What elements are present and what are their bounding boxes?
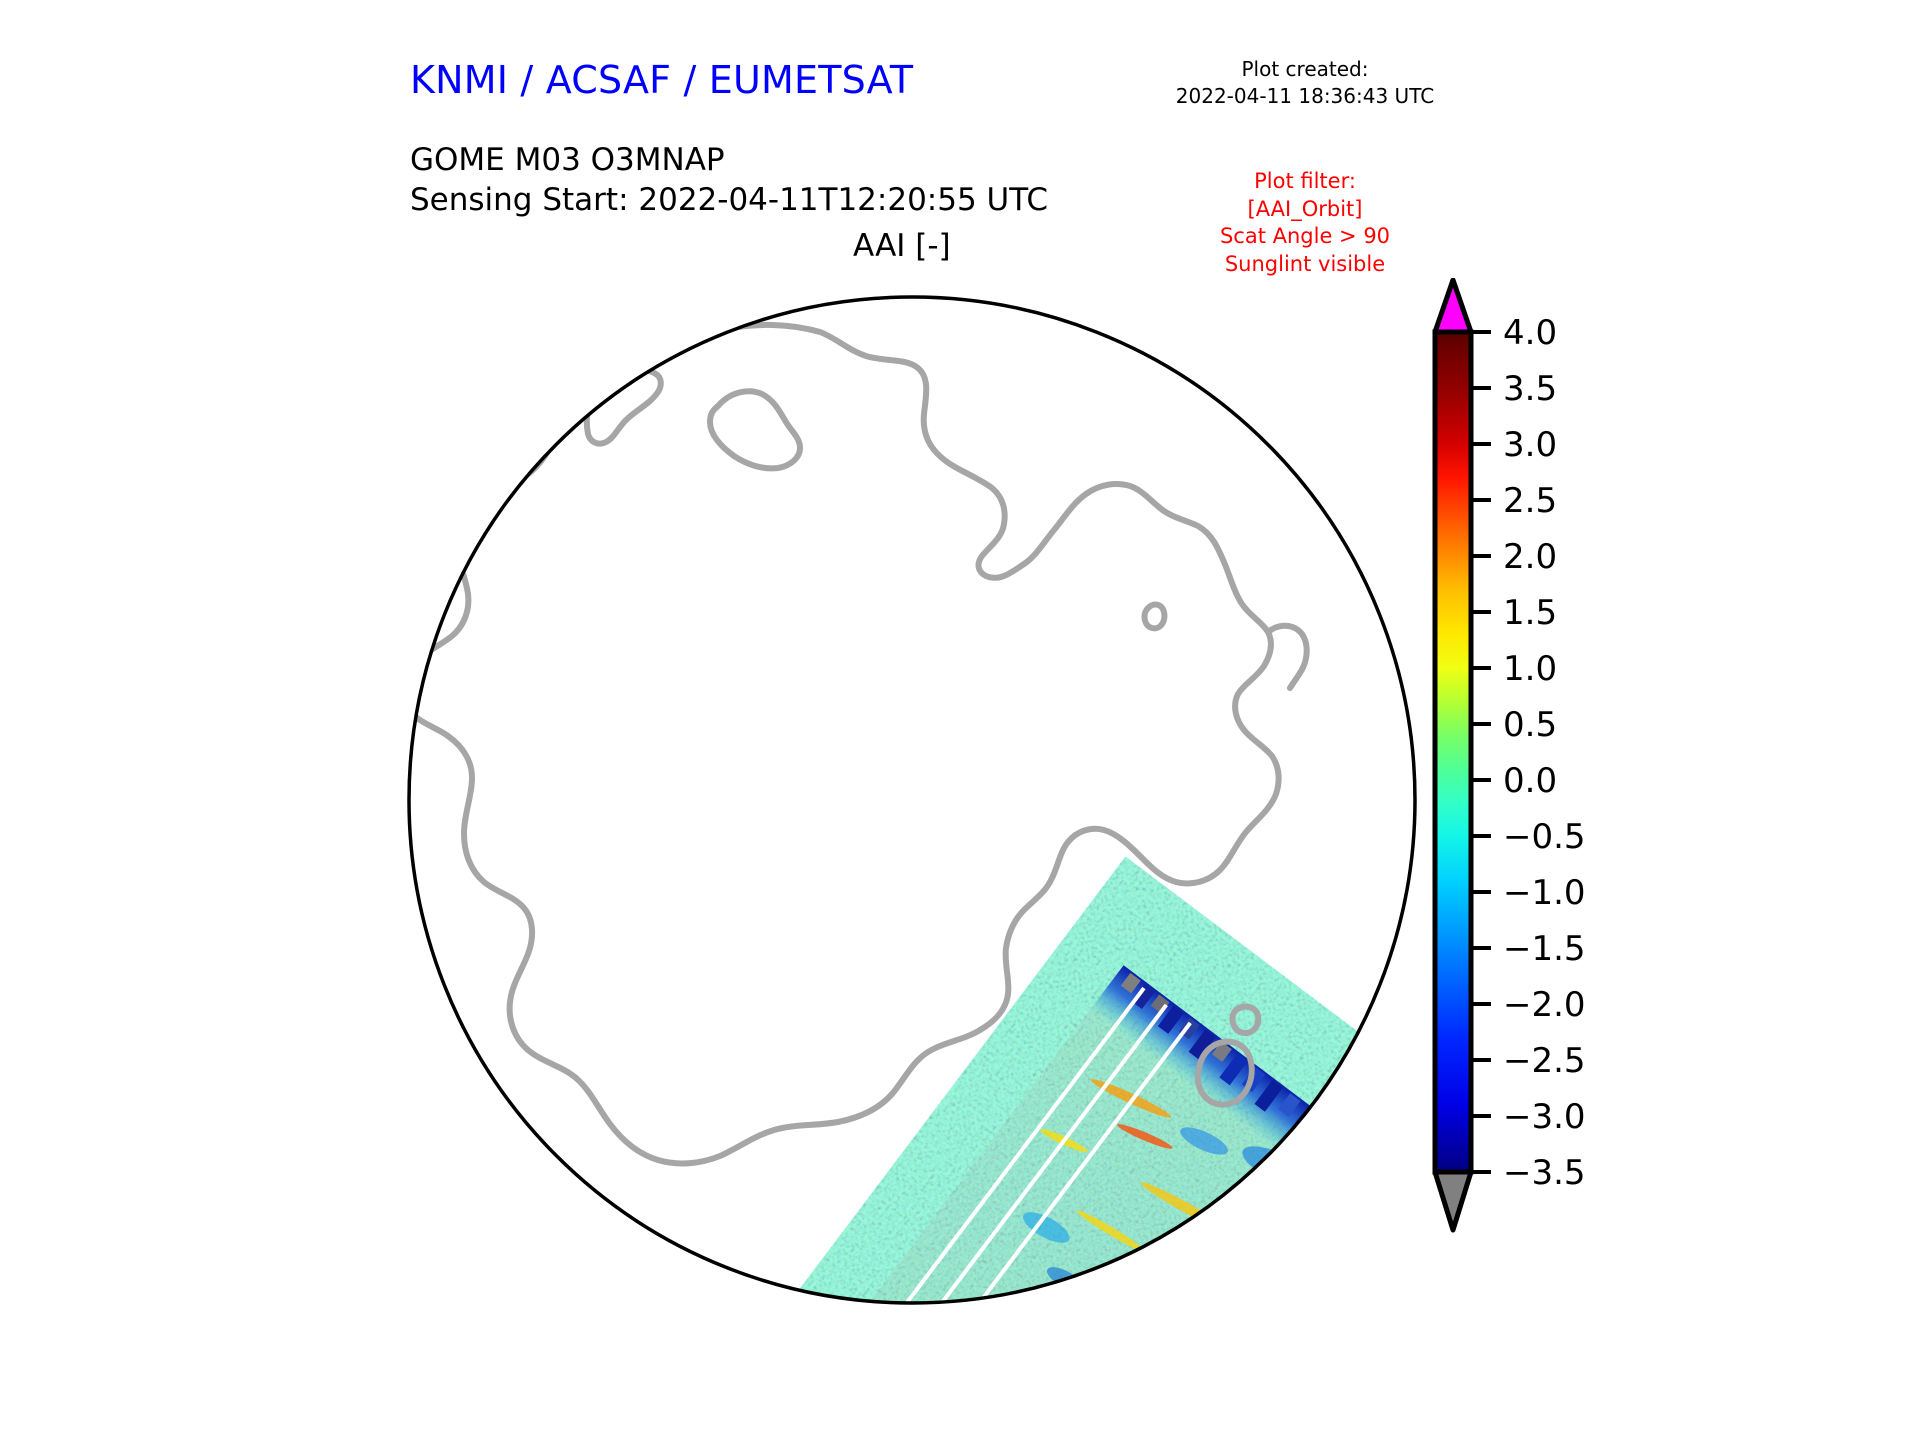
colorbar-tick-label: 1.5: [1503, 593, 1557, 633]
colorbar-tick-label: −3.5: [1503, 1153, 1586, 1193]
colorbar-tick-label: 2.0: [1503, 537, 1557, 577]
colorbar-tick-label: 4.0: [1503, 313, 1557, 353]
plot-filter-title: Plot filter:: [1160, 168, 1450, 196]
plot-filter-block: Plot filter: [AAI_Orbit] Scat Angle > 90…: [1160, 168, 1450, 279]
polar-map: [400, 280, 1430, 1330]
colorbar-over-arrow: [1435, 280, 1471, 332]
organisation-title: KNMI / ACSAF / EUMETSAT: [410, 58, 913, 102]
colorbar-tick-label: 0.0: [1503, 761, 1557, 801]
colorbar-tick-label: 0.5: [1503, 705, 1557, 745]
colorbar-gradient: [1435, 332, 1471, 1172]
plot-filter-scat-angle: Scat Angle > 90: [1160, 223, 1450, 251]
sensing-start: Sensing Start: 2022-04-11T12:20:55 UTC: [410, 180, 1048, 220]
colorbar-tick-label: 2.5: [1503, 481, 1557, 521]
map-area: [400, 280, 1430, 1330]
colorbar-ticks: 4.03.53.02.52.01.51.00.50.0−0.5−1.0−1.5−…: [1471, 313, 1586, 1193]
colorbar-tick-label: −3.0: [1503, 1097, 1586, 1137]
colorbar-tick-label: −0.5: [1503, 817, 1586, 857]
colorbar: 4.03.53.02.52.01.51.00.50.0−0.5−1.0−1.5−…: [1425, 278, 1655, 1308]
colorbar-under-arrow: [1435, 1172, 1471, 1230]
colorbar-tick-label: −1.5: [1503, 929, 1586, 969]
quantity-label: AAI [-]: [853, 228, 951, 264]
colorbar-tick-label: 1.0: [1503, 649, 1557, 689]
plot-created-block: Plot created: 2022-04-11 18:36:43 UTC: [1160, 56, 1450, 110]
colorbar-tick-label: 3.0: [1503, 425, 1557, 465]
colorbar-tick-label: −1.0: [1503, 873, 1586, 913]
product-title-block: GOME M03 O3MNAP Sensing Start: 2022-04-1…: [410, 140, 1048, 221]
plot-created-timestamp: 2022-04-11 18:36:43 UTC: [1160, 83, 1450, 110]
plot-filter-orbit: [AAI_Orbit]: [1160, 196, 1450, 224]
colorbar-tick-label: −2.0: [1503, 985, 1586, 1025]
colorbar-svg: 4.03.53.02.52.01.51.00.50.0−0.5−1.0−1.5−…: [1425, 278, 1655, 1308]
product-name: GOME M03 O3MNAP: [410, 140, 1048, 180]
colorbar-tick-label: −2.5: [1503, 1041, 1586, 1081]
plot-page: KNMI / ACSAF / EUMETSAT Plot created: 20…: [0, 0, 1920, 1440]
plot-created-label: Plot created:: [1160, 56, 1450, 83]
colorbar-tick-label: 3.5: [1503, 369, 1557, 409]
plot-filter-sunglint: Sunglint visible: [1160, 251, 1450, 279]
